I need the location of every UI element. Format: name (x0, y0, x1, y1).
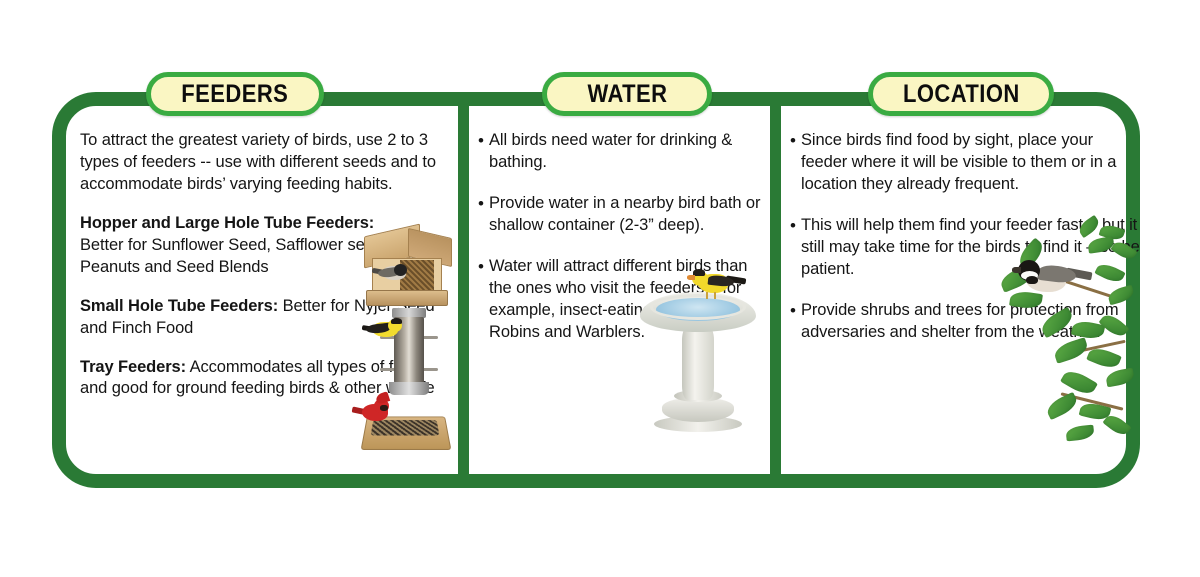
leaf-icon (1098, 311, 1129, 340)
goldfinch-icon (688, 268, 746, 300)
infographic-root: FEEDERS WATER LOCATION To attract the gr… (0, 0, 1200, 577)
bird-beak-icon (1012, 267, 1021, 273)
leaf-icon (1087, 236, 1115, 253)
bird-beak-icon (687, 275, 695, 280)
tray-feeder-illustration (350, 394, 452, 458)
bird-leg-icon (706, 292, 708, 299)
location-bullet-1-text: Since birds find food by sight, place yo… (801, 130, 1140, 196)
leaf-icon (1052, 337, 1090, 364)
leaf-icon (1044, 392, 1080, 420)
bullet-glyph-icon: • (478, 130, 489, 174)
bird-head-icon (394, 264, 407, 276)
badge-location-label: LOCATION (903, 80, 1020, 109)
bullet-glyph-icon: • (478, 256, 489, 344)
leaf-icon (1105, 368, 1135, 388)
leaf-icon (1107, 285, 1136, 306)
feeders-entry-hopper-heading: Hopper and Large Hole Tube Feeders: (80, 214, 374, 232)
bath-pedestal-icon (682, 326, 714, 400)
bird-bib-icon (1026, 276, 1038, 284)
badge-water: WATER (542, 72, 712, 116)
leaf-icon (1065, 425, 1094, 442)
hopper-feeder-illustration (358, 224, 456, 310)
bird-bath-illustration (640, 268, 756, 458)
chickadee-branch-illustration (996, 218, 1144, 450)
leaf-icon (1110, 238, 1137, 262)
badge-water-label: WATER (587, 80, 667, 109)
cardinal-icon (350, 394, 396, 428)
feeders-intro: To attract the greatest variety of birds… (80, 130, 450, 196)
goldfinch-icon (362, 318, 406, 342)
water-bullet-2: • Provide water in a nearby bird bath or… (478, 193, 768, 237)
badge-location: LOCATION (868, 72, 1054, 116)
water-bullet-2-text: Provide water in a nearby bird bath or s… (489, 193, 768, 237)
feeders-entry-smalltube-heading: Small Hole Tube Feeders: (80, 297, 278, 315)
bird-leg-icon (714, 292, 716, 299)
leaf-icon (1076, 215, 1101, 238)
column-divider-1 (458, 92, 469, 482)
bullet-glyph-icon: • (790, 130, 801, 196)
badge-feeders: FEEDERS (146, 72, 324, 116)
tube-feeder-illustration (370, 308, 448, 404)
column-divider-2 (770, 92, 781, 482)
feeders-entry-hopper-body: Better for Sunflower Seed, Safflower see… (80, 236, 387, 276)
leaf-icon (1102, 411, 1131, 438)
chickadee-icon (372, 264, 412, 284)
water-bullet-1-text: All birds need water for drinking & bath… (489, 130, 768, 174)
feeders-entry-tray-heading: Tray Feeders: (80, 358, 186, 376)
badge-feeders-label: FEEDERS (181, 80, 288, 109)
bullet-glyph-icon: • (790, 215, 801, 281)
location-bullet-1: • Since birds find food by sight, place … (790, 130, 1140, 196)
bird-face-mask-icon (380, 405, 388, 411)
hopper-base-icon (366, 290, 448, 306)
bullet-glyph-icon: • (478, 193, 489, 237)
bird-cap-icon (391, 318, 402, 324)
water-bullet-1: • All birds need water for drinking & ba… (478, 130, 768, 174)
bullet-glyph-icon: • (790, 300, 801, 344)
chickadee-icon (1012, 256, 1088, 298)
leaf-icon (1094, 261, 1125, 286)
